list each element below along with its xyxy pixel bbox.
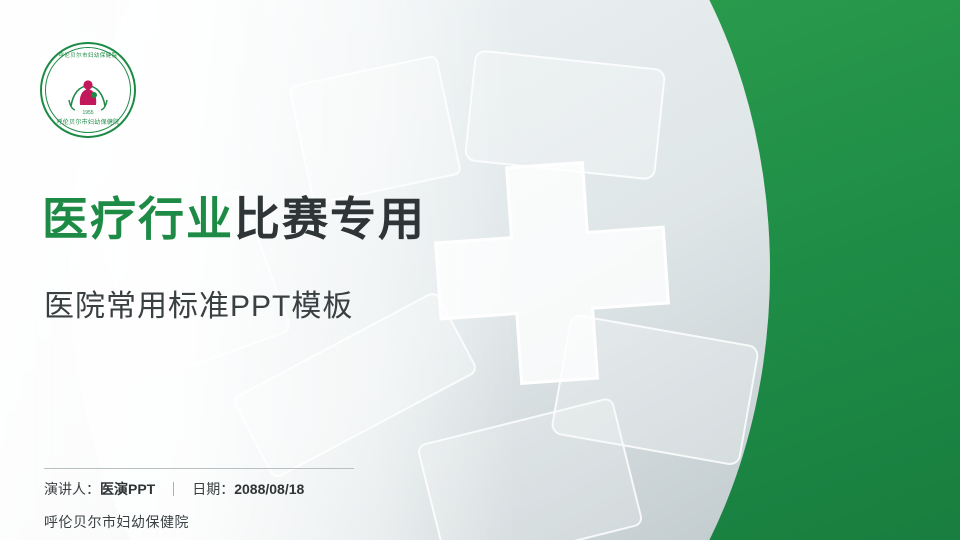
mother-and-child-icon (67, 76, 109, 112)
hospital-logo: 呼伦贝尔市妇幼保健院 1955 呼伦贝尔市妇幼保健院 (40, 42, 136, 138)
date-label: 日期： (192, 479, 234, 499)
page-title-green: 医疗行业 (42, 193, 234, 245)
page-title: 医疗行业比赛专用 (42, 196, 426, 242)
logo-top-text: 呼伦贝尔市妇幼保健院 (40, 51, 136, 59)
presentation-slide: 呼伦贝尔市妇幼保健院 1955 呼伦贝尔市妇幼保健院 医疗行业比赛专用 医院常用… (0, 0, 960, 540)
footer-separator (173, 482, 174, 496)
logo-year: 1955 (40, 110, 136, 116)
presenter-value: 医演PPT (100, 479, 155, 499)
footer-meta: 演讲人： 医演PPT 日期： 2088/08/18 (44, 479, 304, 499)
footer-divider (44, 468, 354, 469)
organization-name: 呼伦贝尔市妇幼保健院 (44, 512, 189, 532)
page-title-dark: 比赛专用 (234, 193, 426, 245)
presenter-label: 演讲人： (44, 479, 100, 499)
date-value: 2088/08/18 (234, 481, 304, 497)
logo-bottom-text: 呼伦贝尔市妇幼保健院 (40, 117, 136, 126)
page-subtitle: 医院常用标准PPT模板 (44, 281, 353, 325)
